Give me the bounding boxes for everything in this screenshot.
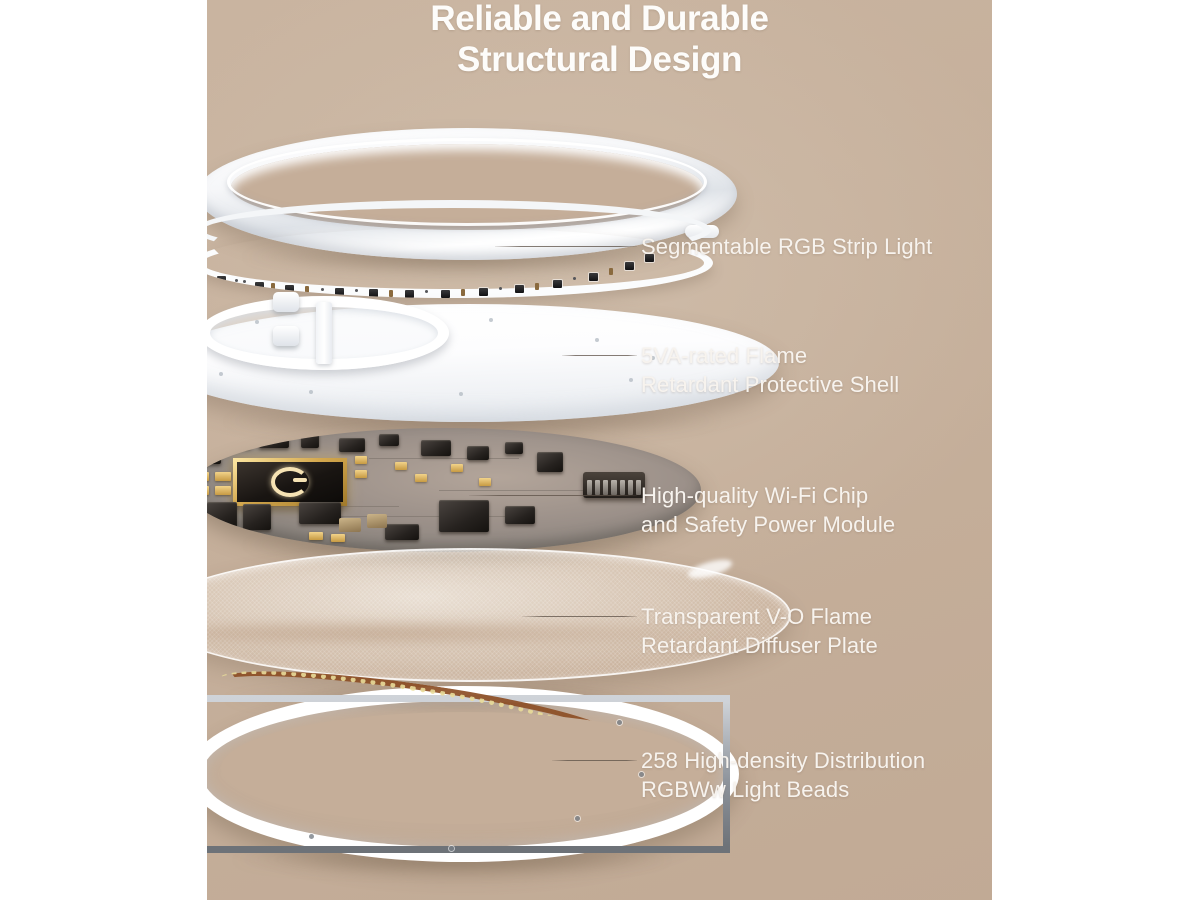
led-chip [479, 288, 488, 296]
pcb-capacitor [367, 514, 387, 528]
callout-wifi-chip-power-module: High-quality Wi-Fi Chip and Safety Power… [641, 481, 895, 539]
bead-ring-rivet [449, 846, 454, 851]
pcb-gold-pad [355, 470, 367, 478]
pcb-trace [369, 458, 519, 459]
led-chip [217, 276, 226, 284]
bead-ring-opening [221, 712, 705, 824]
led-chip [335, 288, 344, 296]
header-pin [611, 480, 616, 495]
strip-solder-dot [425, 290, 428, 293]
strip-solder-dot [573, 277, 576, 280]
page-title: Reliable and Durable Structural Design [207, 0, 992, 80]
pcb-gold-pad [415, 474, 427, 482]
pcb-component [207, 502, 237, 528]
pcb-component [379, 434, 399, 446]
pcb-component [467, 446, 489, 460]
shell-mounting-bracket [207, 296, 449, 370]
shell-screw-hole [459, 392, 463, 396]
bead-ring-rivet [575, 816, 580, 821]
brand-g-logo-icon [271, 467, 309, 497]
product-infographic-panel: Reliable and Durable Structural Design [207, 0, 992, 900]
leader-line-wifi-chip [469, 495, 637, 496]
bracket-post [273, 292, 299, 312]
leader-line-protective-shell [562, 355, 637, 356]
pcb-component [299, 502, 341, 524]
screenshot-canvas: Reliable and Durable Structural Design [0, 0, 1200, 900]
pcb-gold-pad [215, 486, 231, 495]
strip-resistor [535, 283, 539, 290]
pcb-capacitor [339, 518, 361, 532]
callout-segmentable-rgb-strip-light: Segmentable RGB Strip Light [641, 232, 932, 261]
pcb-gold-pad [309, 532, 323, 540]
callout-flame-retardant-protective-shell: 5VA-rated Flame Retardant Protective She… [641, 341, 899, 399]
bracket-crossbar [316, 302, 332, 364]
pcb-component [259, 436, 289, 448]
layer-rgb-led-strip [207, 206, 713, 298]
header-pin [587, 480, 592, 495]
shell-screw-hole [309, 390, 313, 394]
layer-driver-pcb [207, 428, 701, 552]
pcb-gold-pad [207, 472, 209, 481]
led-chip [625, 262, 634, 270]
shell-screw-hole [219, 372, 223, 376]
strip-solder-dot [499, 287, 502, 290]
strip-resistor [461, 289, 465, 296]
pcb-substrate [207, 428, 701, 552]
header-pin [620, 480, 625, 495]
headline-line-1: Reliable and Durable [430, 0, 768, 38]
pcb-gold-pad [331, 534, 345, 542]
pcb-component [505, 506, 535, 524]
pcb-gold-pad [395, 462, 407, 470]
pcb-gold-pad [451, 464, 463, 472]
shell-screw-hole [489, 318, 493, 322]
pcb-component [537, 452, 563, 472]
wifi-chip [233, 458, 347, 506]
bracket-post [273, 326, 299, 346]
header-pin [603, 480, 608, 495]
pcb-trace [309, 516, 529, 517]
pcb-gold-pad [207, 486, 209, 495]
strip-resistor [271, 283, 275, 290]
led-chip [515, 285, 524, 293]
pcb-gold-pad [215, 472, 231, 481]
strip-solder-dot [235, 279, 238, 282]
pcb-gold-pad [479, 478, 491, 486]
bead-ring-rivet [309, 834, 314, 839]
led-chip [255, 282, 264, 290]
led-chip [553, 280, 562, 288]
leader-line-strip-light [495, 246, 637, 247]
leader-line-diffuser-plate [522, 616, 637, 617]
strip-solder-dot [355, 289, 358, 292]
strip-led-row [207, 228, 713, 298]
pcb-component [439, 500, 489, 532]
headline-line-2: Structural Design [207, 39, 992, 80]
pcb-component [229, 434, 251, 448]
shell-screw-hole [595, 338, 599, 342]
pcb-gold-pad [355, 456, 367, 464]
pcb-component [301, 432, 319, 448]
pcb-component [207, 442, 221, 464]
callout-high-density-light-beads: 258 High-density Distribution RGBWw Ligh… [641, 746, 925, 804]
header-pin [595, 480, 600, 495]
shell-screw-hole [255, 320, 259, 324]
pcb-component [339, 438, 365, 452]
strip-solder-dot [243, 280, 246, 283]
strip-solder-dot [321, 288, 324, 291]
pcb-component [421, 440, 451, 456]
pcb-component [243, 504, 271, 530]
shell-screw-hole [629, 378, 633, 382]
pcb-component [505, 442, 523, 454]
header-pin [628, 480, 633, 495]
callout-transparent-diffuser-plate: Transparent V-O Flame Retardant Diffuser… [641, 602, 878, 660]
strip-resistor [609, 268, 613, 275]
bead-ring-rivet [617, 720, 622, 725]
strip-resistor [305, 286, 309, 293]
leader-line-light-beads [552, 760, 637, 761]
pcb-component [385, 524, 419, 540]
led-chip [589, 273, 598, 281]
